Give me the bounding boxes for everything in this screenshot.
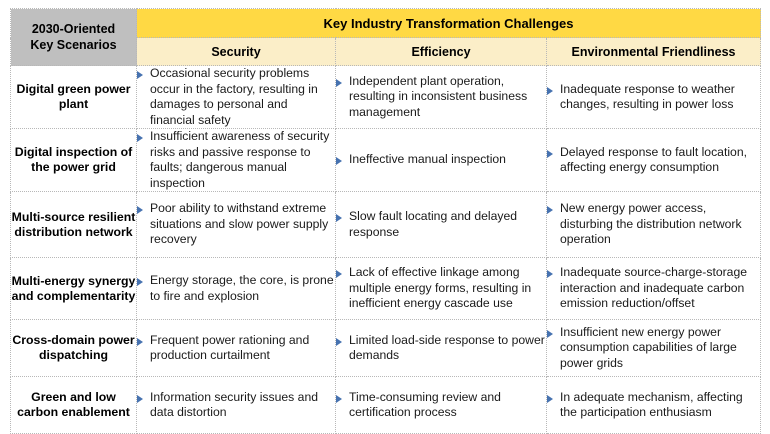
column-header-environmental: Environmental Friendliness: [547, 38, 761, 66]
table-row: Digital inspection of the power grid Ins…: [11, 129, 761, 192]
cell-efficiency: Time-consuming review and certification …: [336, 377, 547, 434]
corner-header-line2: Key Scenarios: [11, 37, 136, 53]
cell-environmental: Inadequate response to weather changes, …: [547, 66, 761, 129]
scenario-label: Digital inspection of the power grid: [11, 129, 137, 192]
bullet-triangle-icon: [336, 214, 342, 222]
cell-efficiency: Ineffective manual inspection: [336, 129, 547, 192]
bullet-text: Delayed response to fault location, affe…: [560, 145, 760, 176]
bullet-text: Inadequate response to weather changes, …: [560, 82, 760, 113]
table-row: Digital green power plant Occasional sec…: [11, 66, 761, 129]
bullet-triangle-icon: [336, 270, 342, 278]
cell-environmental: In adequate mechanism, affecting the par…: [547, 377, 761, 434]
bullet-text: Time-consuming review and certification …: [349, 390, 546, 421]
scenario-label: Multi-source resilient distribution netw…: [11, 192, 137, 258]
bullet-text: Occasional security problems occur in th…: [150, 66, 335, 128]
table-row: Cross-domain power dispatching Frequent …: [11, 320, 761, 377]
table-row: Green and low carbon enablement Informat…: [11, 377, 761, 434]
scenario-label: Multi-energy synergy and complementarity: [11, 258, 137, 320]
bullet-triangle-icon: [336, 395, 342, 403]
bullet-text: Information security issues and data dis…: [150, 390, 335, 421]
bullet-triangle-icon: [547, 395, 553, 403]
bullet-text: Inadequate source-charge-storage interac…: [560, 265, 760, 312]
cell-efficiency: Slow fault locating and delayed response: [336, 192, 547, 258]
cell-environmental: Delayed response to fault location, affe…: [547, 129, 761, 192]
scenario-label: Cross-domain power dispatching: [11, 320, 137, 377]
bullet-triangle-icon: [137, 71, 143, 79]
column-header-security: Security: [137, 38, 336, 66]
table-row: Multi-source resilient distribution netw…: [11, 192, 761, 258]
bullet-triangle-icon: [336, 79, 342, 87]
scenario-label: Digital green power plant: [11, 66, 137, 129]
cell-security: Energy storage, the core, is prone to fi…: [137, 258, 336, 320]
cell-security: Insufficient awareness of security risks…: [137, 129, 336, 192]
bullet-text: Ineffective manual inspection: [349, 152, 506, 168]
column-header-efficiency: Efficiency: [336, 38, 547, 66]
cell-efficiency: Lack of effective linkage among multiple…: [336, 258, 547, 320]
cell-security: Occasional security problems occur in th…: [137, 66, 336, 129]
cell-efficiency: Limited load-side response to power dema…: [336, 320, 547, 377]
bullet-text: Poor ability to withstand extreme situat…: [150, 201, 335, 248]
cell-security: Information security issues and data dis…: [137, 377, 336, 434]
bullet-triangle-icon: [137, 395, 143, 403]
bullet-text: Insufficient awareness of security risks…: [150, 129, 335, 191]
bullet-text: In adequate mechanism, affecting the par…: [560, 390, 760, 421]
table-row: Multi-energy synergy and complementarity…: [11, 258, 761, 320]
challenges-table: 2030-Oriented Key Scenarios Key Industry…: [10, 8, 761, 434]
band-title-cell: Key Industry Transformation Challenges: [137, 9, 761, 38]
cell-environmental: New energy power access, disturbing the …: [547, 192, 761, 258]
bullet-triangle-icon: [137, 338, 143, 346]
bullet-triangle-icon: [137, 278, 143, 286]
cell-efficiency: Independent plant operation, resulting i…: [336, 66, 547, 129]
scenario-label: Green and low carbon enablement: [11, 377, 137, 434]
bullet-triangle-icon: [137, 206, 143, 214]
bullet-triangle-icon: [547, 150, 553, 158]
bullet-text: Frequent power rationing and production …: [150, 333, 335, 364]
bullet-triangle-icon: [547, 330, 553, 338]
bullet-triangle-icon: [547, 206, 553, 214]
bullet-triangle-icon: [336, 157, 342, 165]
bullet-text: New energy power access, disturbing the …: [560, 201, 760, 248]
header-band-row: 2030-Oriented Key Scenarios Key Industry…: [11, 9, 761, 38]
bullet-text: Slow fault locating and delayed response: [349, 209, 546, 240]
bullet-triangle-icon: [336, 338, 342, 346]
bullet-triangle-icon: [547, 270, 553, 278]
cell-environmental: Inadequate source-charge-storage interac…: [547, 258, 761, 320]
corner-header-line1: 2030-Oriented: [11, 21, 136, 37]
cell-security: Frequent power rationing and production …: [137, 320, 336, 377]
cell-security: Poor ability to withstand extreme situat…: [137, 192, 336, 258]
bullet-triangle-icon: [547, 87, 553, 95]
bullet-triangle-icon: [137, 134, 143, 142]
bullet-text: Energy storage, the core, is prone to fi…: [150, 273, 335, 304]
bullet-text: Insufficient new energy power consumptio…: [560, 325, 760, 372]
bullet-text: Lack of effective linkage among multiple…: [349, 265, 546, 312]
bullet-text: Independent plant operation, resulting i…: [349, 74, 546, 121]
bullet-text: Limited load-side response to power dema…: [349, 333, 546, 364]
transformation-challenges-matrix: 2030-Oriented Key Scenarios Key Industry…: [10, 8, 760, 424]
corner-header-cell: 2030-Oriented Key Scenarios: [11, 9, 137, 66]
cell-environmental: Insufficient new energy power consumptio…: [547, 320, 761, 377]
